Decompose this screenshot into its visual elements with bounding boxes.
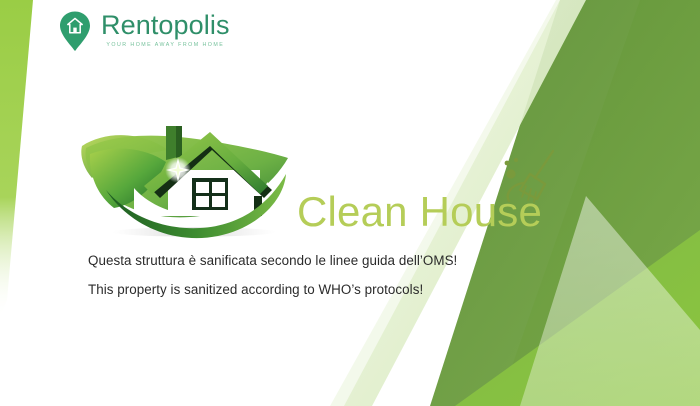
broom-sparkle-dot [505, 161, 510, 166]
brand-header: Rentopolis YOUR HOME AWAY FROM HOME [56, 8, 230, 52]
broom-sparkle-dot [514, 158, 518, 162]
logo-window-pane [212, 182, 225, 193]
eco-leaf-house-logo [72, 104, 312, 244]
logo-window-pane [196, 182, 209, 193]
broom-sparkle-dot [506, 169, 515, 178]
logo-window-pane [196, 196, 209, 207]
page-title: Clean House [297, 189, 542, 234]
left-green-wedge [0, 0, 33, 318]
brand-wordmark: Rentopolis [101, 11, 230, 39]
logo-chimney-shade [176, 126, 182, 158]
location-pin-house-icon [56, 10, 94, 52]
caption-block: Questa struttura è sanificata secondo le… [88, 254, 508, 297]
caption-italian: Questa struttura è sanificata secondo le… [88, 254, 508, 267]
caption-english: This property is sanitized according to … [88, 283, 508, 296]
logo-window-pane [212, 196, 225, 207]
logo-sparkle-icon [165, 157, 191, 183]
brand-tagline: YOUR HOME AWAY FROM HOME [106, 42, 224, 48]
brand-text-block: Rentopolis YOUR HOME AWAY FROM HOME [101, 8, 230, 48]
title-row: Clean House [297, 145, 567, 245]
clean-house-slide: Rentopolis YOUR HOME AWAY FROM HOME [0, 0, 700, 406]
